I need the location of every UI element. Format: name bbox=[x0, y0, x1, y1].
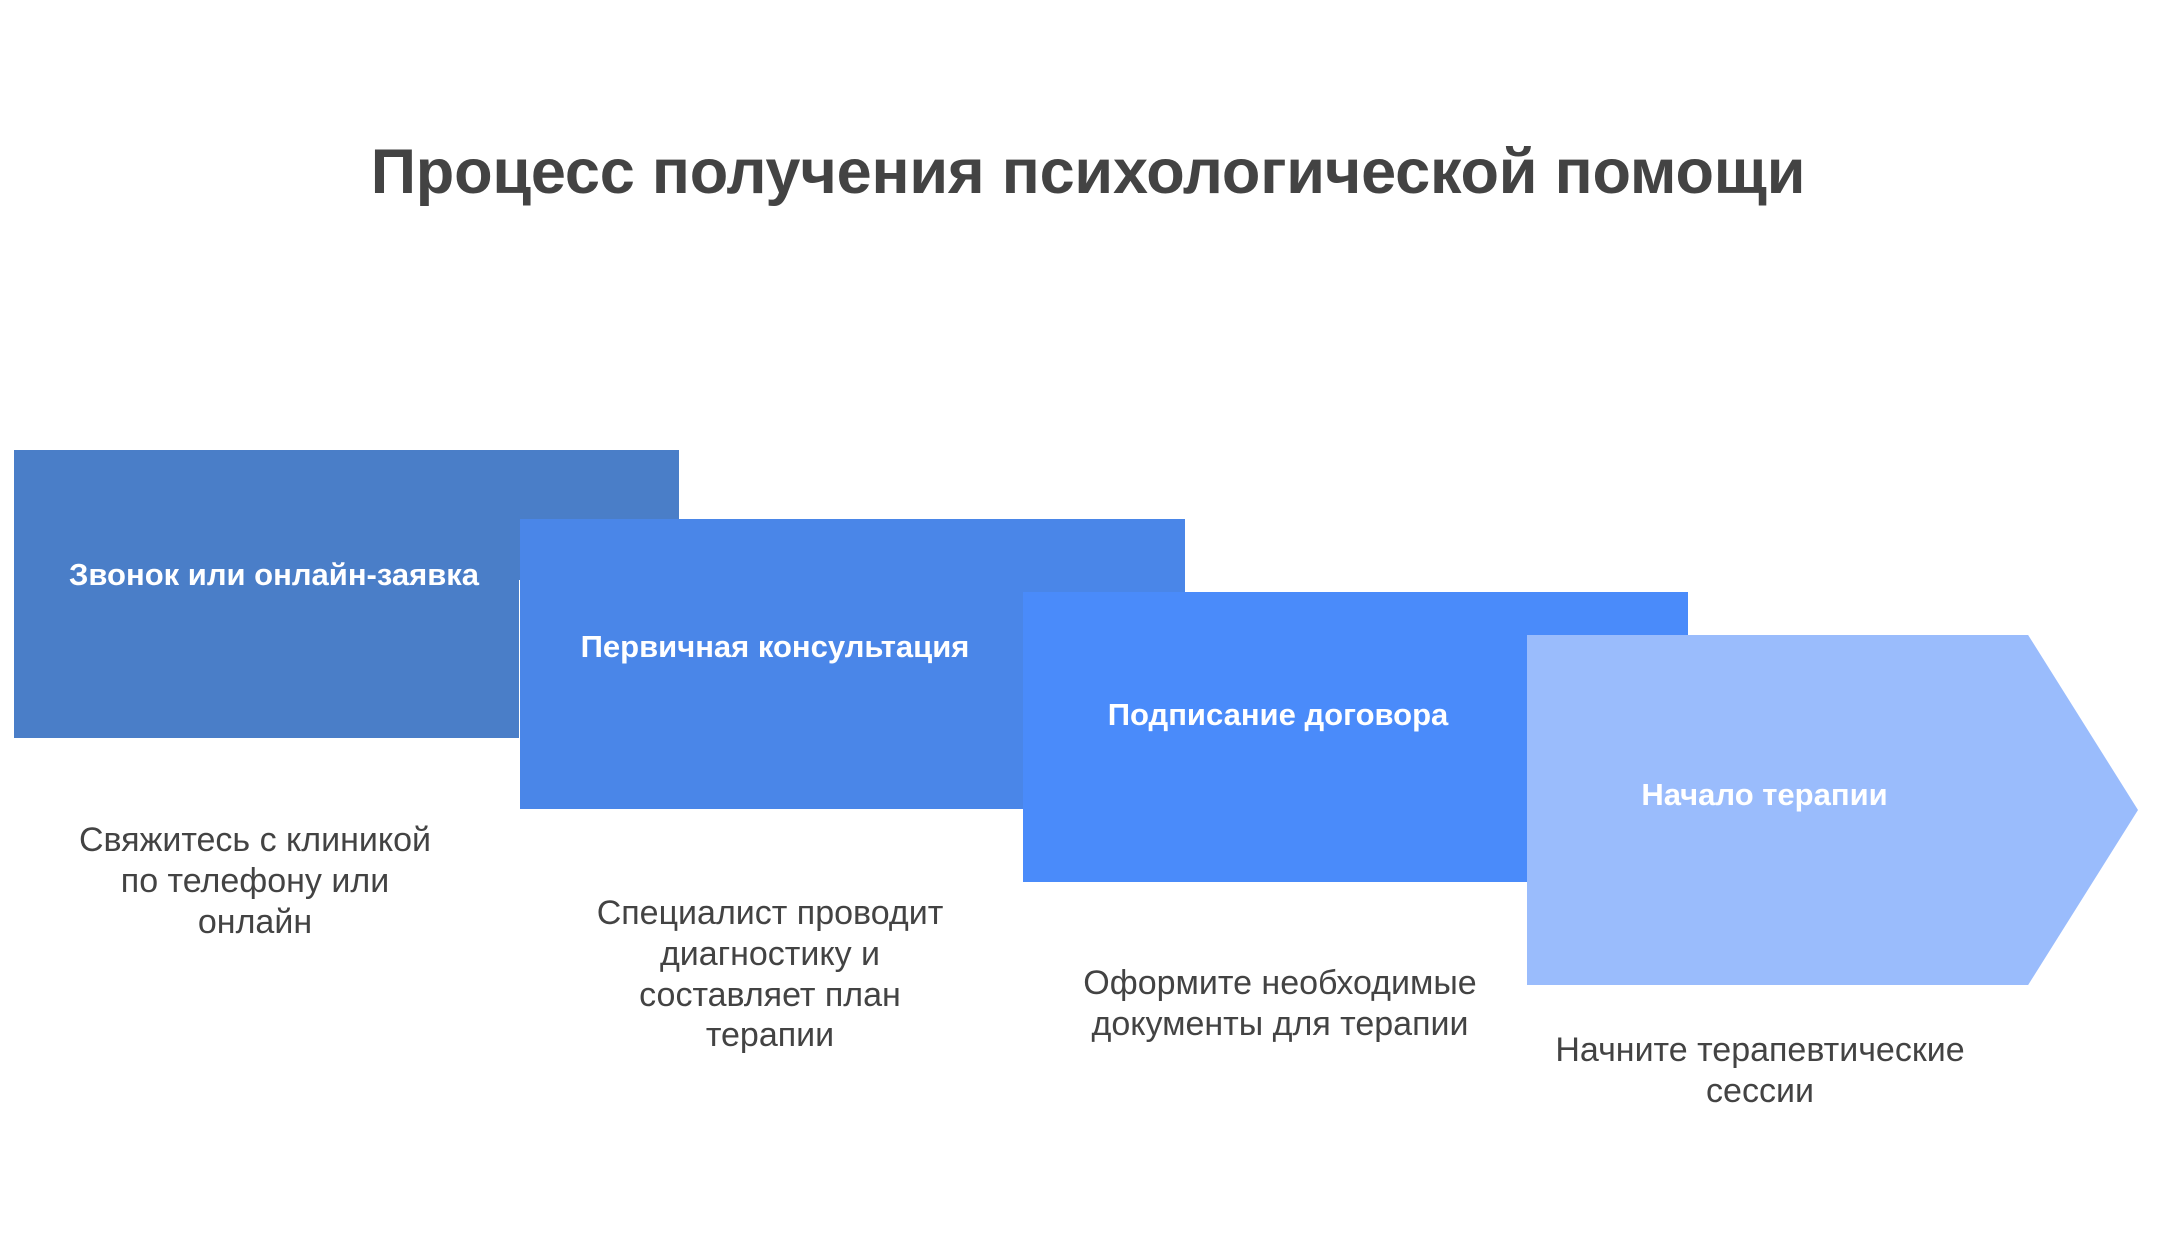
process-step-2-caption: Специалист проводит диагностику и состав… bbox=[575, 893, 965, 1056]
slide-canvas: Процесс получения психологической помощи… bbox=[0, 0, 2176, 1256]
page-title: Процесс получения психологической помощи bbox=[0, 136, 2176, 208]
step-4-arrow-shape bbox=[1527, 635, 2147, 985]
process-step-4-caption: Начните терапевтические сессии bbox=[1555, 1030, 1965, 1112]
process-step-1-caption: Свяжитесь с клиникой по телефону или онл… bbox=[70, 820, 440, 942]
process-step-4[interactable] bbox=[1527, 635, 2147, 985]
process-step-3-caption: Оформите необходимые документы для терап… bbox=[1080, 963, 1480, 1045]
